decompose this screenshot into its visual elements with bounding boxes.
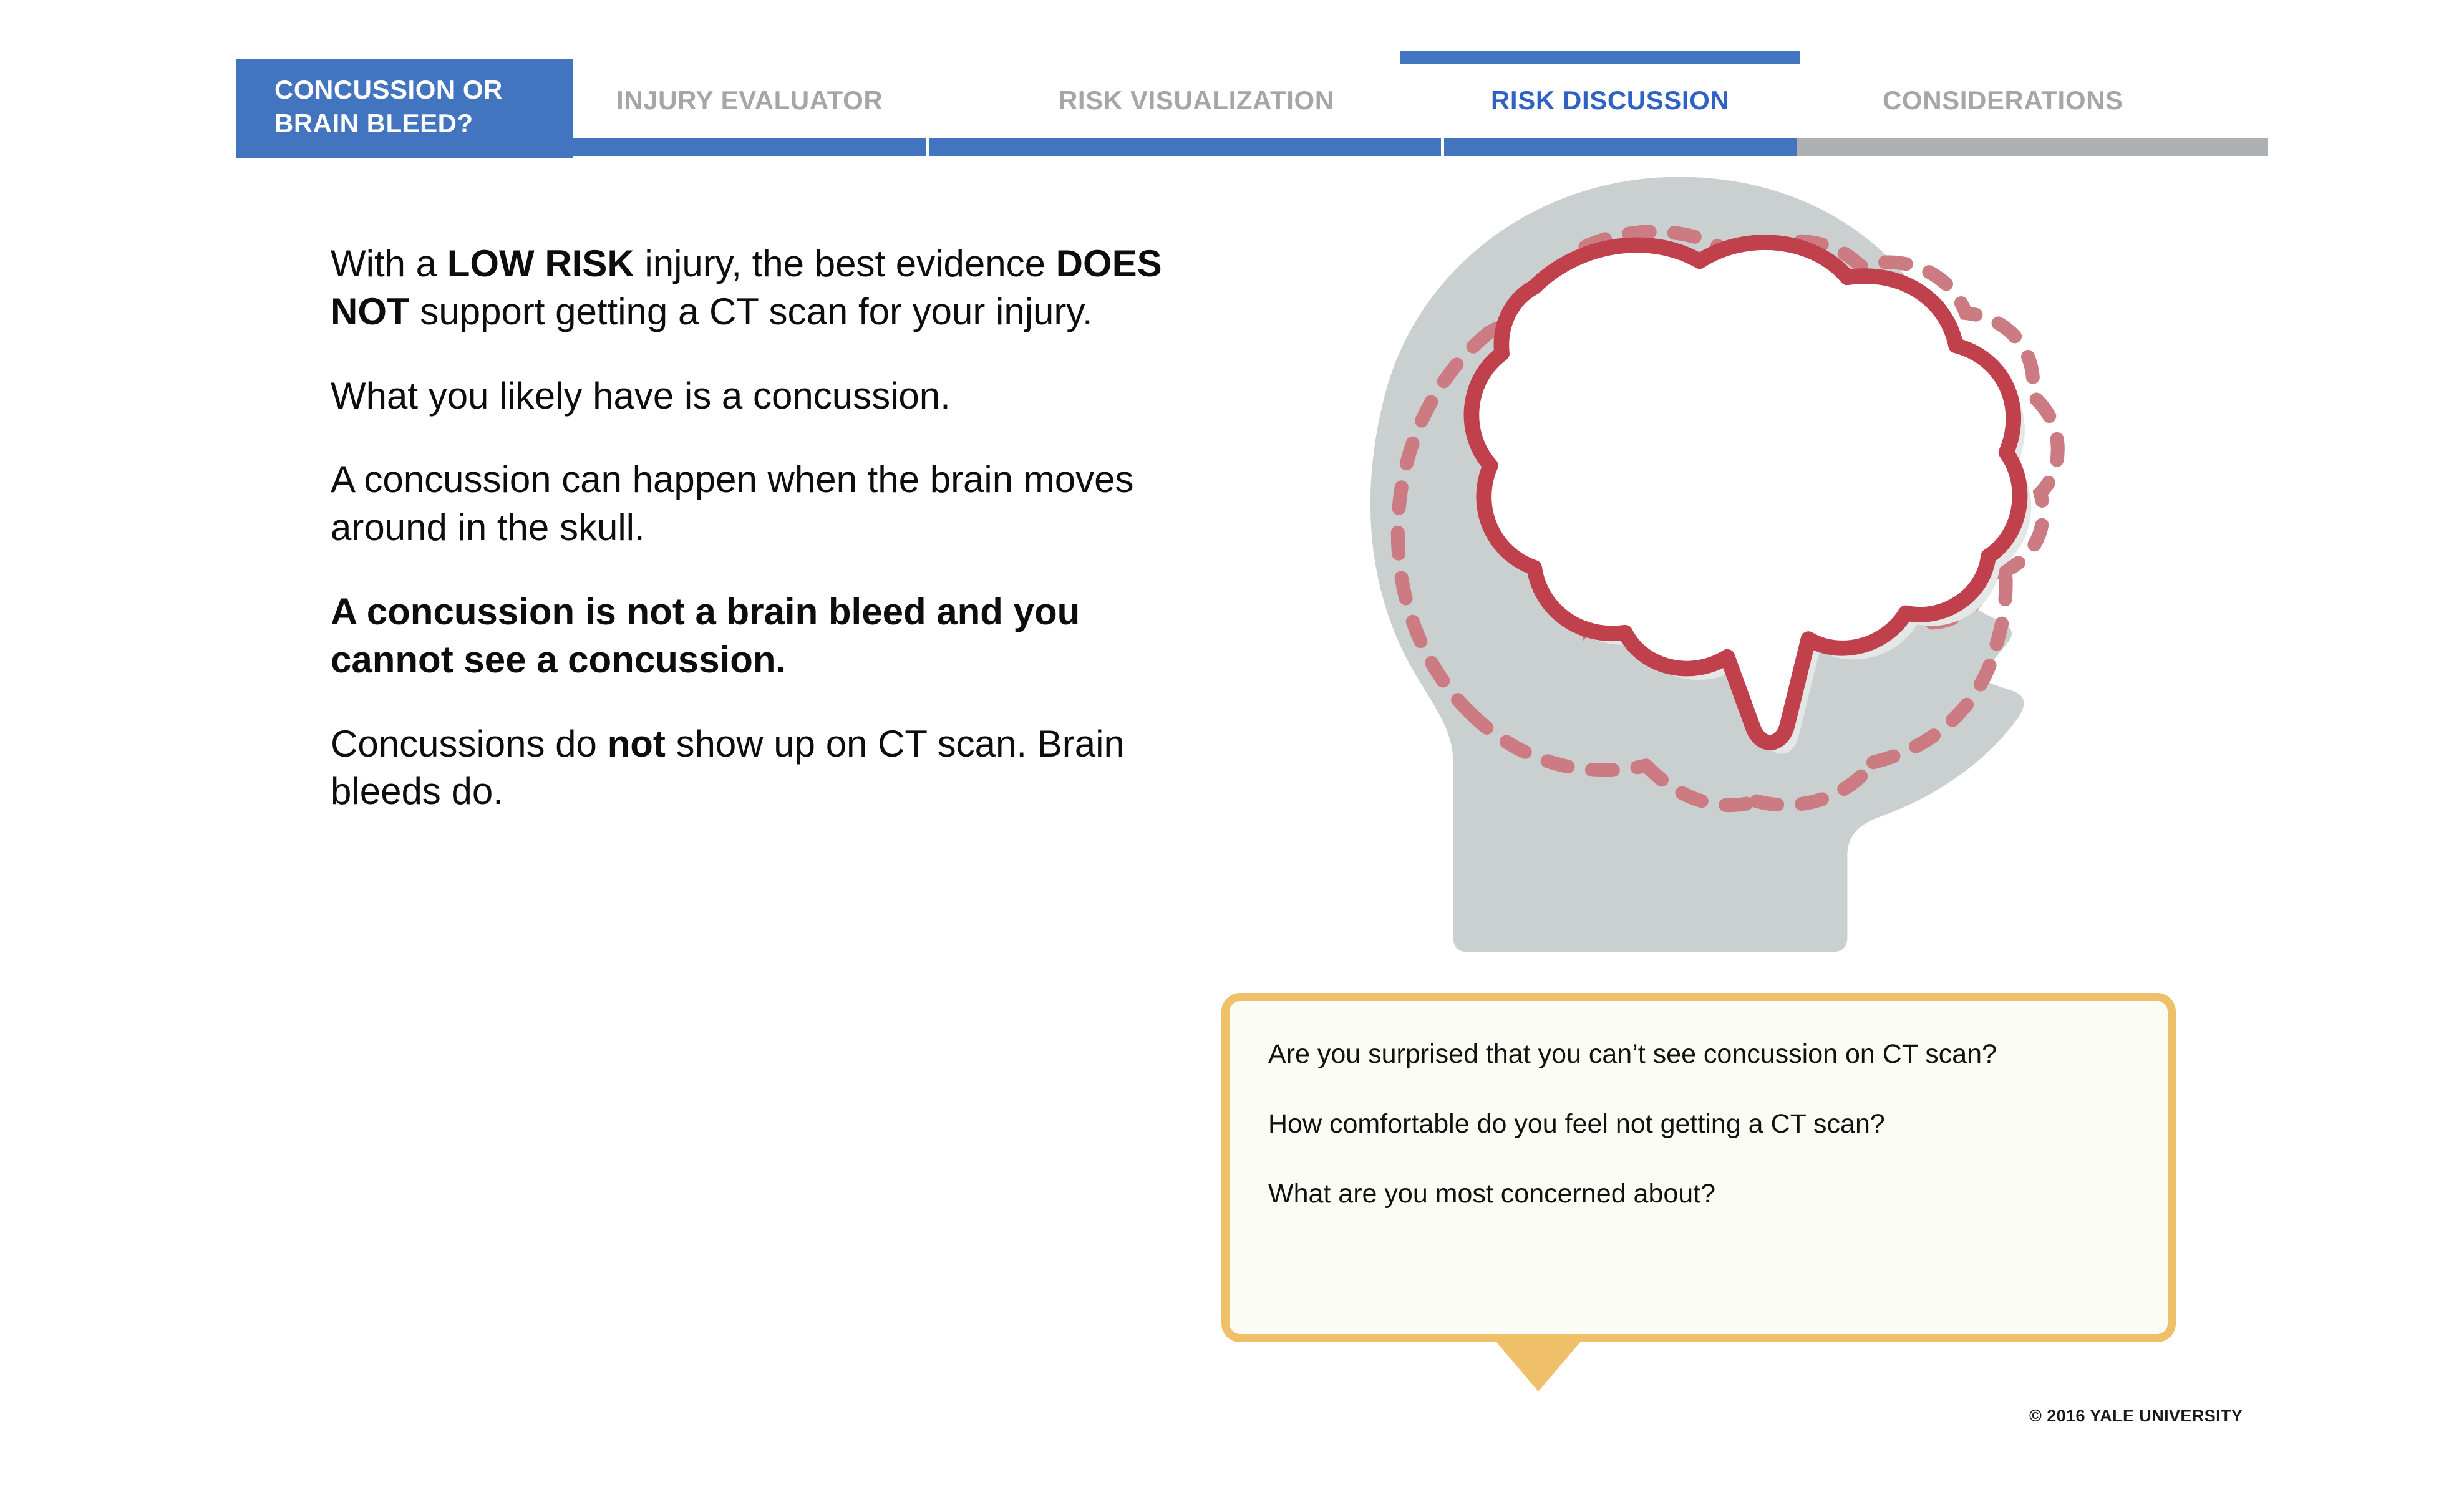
tab-considerations[interactable]: CONSIDERATIONS [1883,85,2123,119]
body-paragraph-4: A concussion is not a brain bleed and yo… [331,588,1179,684]
module-title-line-1: CONCUSSION OR [274,73,573,107]
module-title-line-2: BRAIN BLEED? [274,107,573,140]
callout-pointer-tail [1490,1334,1587,1391]
tab-risk-discussion[interactable]: RISK DISCUSSION [1491,85,1729,119]
body-paragraph-5: Concussions do not show up on CT scan. B… [331,720,1179,816]
emphasis-low-risk: LOW RISK [447,243,634,284]
head-profile-illustration [1297,159,2108,970]
risk-discussion-body-text: With a LOW RISK injury, the best evidenc… [331,240,1179,816]
progress-segment-injury-evaluator[interactable] [410,138,926,156]
tab-risk-visualization[interactable]: RISK VISUALIZATION [1059,85,1334,119]
progress-segment-title [236,138,407,156]
body-paragraph-3: A concussion can happen when the brain m… [331,456,1179,552]
tab-injury-evaluator[interactable]: INJURY EVALUATOR [616,85,883,119]
discussion-questions-callout: Are you surprised that you can’t see con… [1221,993,2176,1342]
progress-segment-risk-visualization[interactable] [929,138,1441,156]
discussion-question-2: How comfortable do you feel not getting … [1268,1107,2129,1142]
body-paragraph-2: What you likely have is a concussion. [331,372,1179,420]
copyright-notice: © 2016 YALE UNIVERSITY [2029,1406,2243,1426]
top-navigation-bar: CONCUSSION OR BRAIN BLEED? INJURY EVALUA… [0,0,2464,159]
discussion-question-1: Are you surprised that you can’t see con… [1268,1037,2129,1072]
progress-segment-considerations[interactable] [1797,138,2268,156]
emphasis-not: not [608,723,666,765]
active-tab-indicator [1400,51,1800,64]
body-paragraph-1: With a LOW RISK injury, the best evidenc… [331,240,1179,336]
discussion-question-3: What are you most concerned about? [1268,1177,2129,1212]
progress-segment-risk-discussion[interactable] [1444,138,1797,156]
